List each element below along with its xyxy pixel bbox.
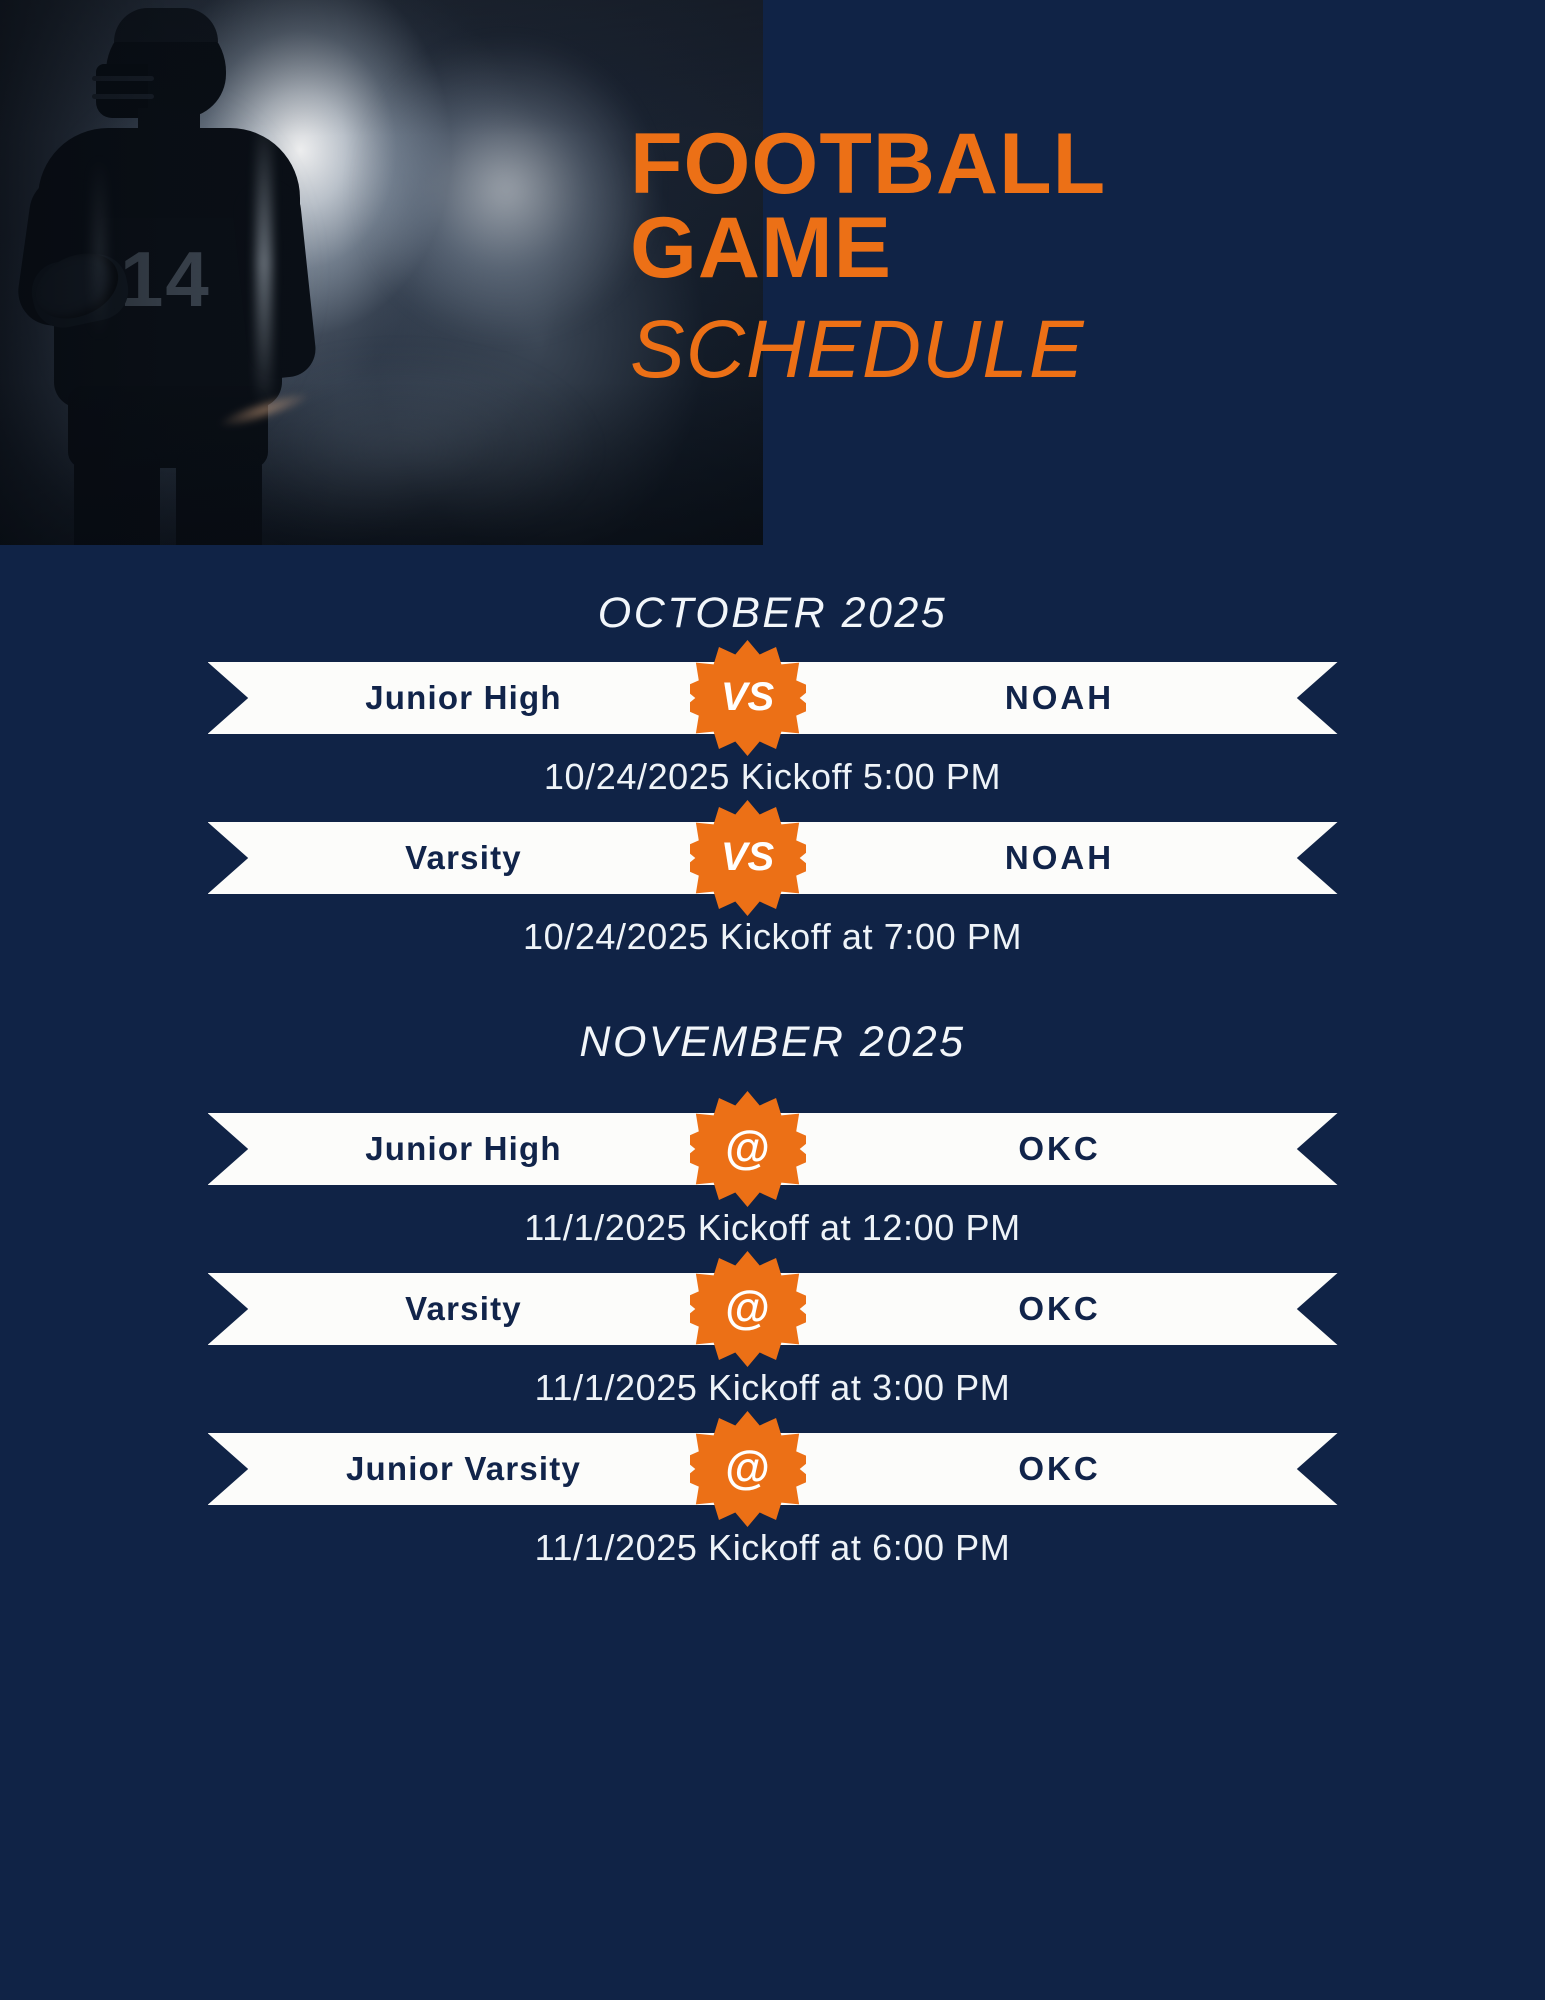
- game-block: Junior High @ OKC 11/1/2025 Kickoff at 1…: [0, 1113, 1545, 1249]
- football-schedule-poster: 14 FOOTBALL GAME SCHEDULE OCTOBER 2025: [0, 0, 1545, 2000]
- home-team-label: Junior Varsity: [208, 1450, 678, 1488]
- ribbon-content: Junior High VS NOAH: [208, 662, 1338, 734]
- away-team-label: NOAH: [818, 839, 1338, 877]
- game-ribbon: Junior High VS NOAH: [208, 662, 1338, 734]
- away-team-label: OKC: [818, 1450, 1338, 1488]
- at-badge-label: @: [725, 1444, 770, 1490]
- poster-title-block: FOOTBALL GAME SCHEDULE: [630, 122, 1530, 391]
- away-team-label: OKC: [818, 1290, 1338, 1328]
- game-block: Varsity VS NOAH 10/24/2025 Kickoff at 7:…: [0, 822, 1545, 958]
- away-team-label: NOAH: [818, 679, 1338, 717]
- home-team-label: Junior High: [208, 1130, 678, 1168]
- versus-badge-label: VS: [721, 837, 774, 877]
- month-heading-october: OCTOBER 2025: [0, 563, 1545, 638]
- game-ribbon: Varsity VS NOAH: [208, 822, 1338, 894]
- page-subtitle: SCHEDULE: [630, 309, 1530, 391]
- versus-badge-label: VS: [721, 677, 774, 717]
- away-team-label: OKC: [818, 1130, 1338, 1168]
- ribbon-content: Junior Varsity @ OKC: [208, 1433, 1338, 1505]
- game-ribbon: Junior Varsity @ OKC: [208, 1433, 1338, 1505]
- at-badge-label: @: [725, 1124, 770, 1170]
- home-team-label: Varsity: [208, 839, 678, 877]
- schedule-section: OCTOBER 2025 Junior High VS NOAH 10/24/2…: [0, 545, 1545, 1569]
- ribbon-content: Varsity @ OKC: [208, 1273, 1338, 1345]
- month-heading-november: NOVEMBER 2025: [0, 958, 1545, 1067]
- game-block: Junior Varsity @ OKC 11/1/2025 Kickoff a…: [0, 1433, 1545, 1569]
- home-team-label: Junior High: [208, 679, 678, 717]
- ribbon-content: Junior High @ OKC: [208, 1113, 1338, 1185]
- hero-section: 14 FOOTBALL GAME SCHEDULE: [0, 0, 1545, 545]
- at-badge-label: @: [725, 1284, 770, 1330]
- ribbon-content: Varsity VS NOAH: [208, 822, 1338, 894]
- page-title: FOOTBALL GAME: [630, 122, 1530, 291]
- game-ribbon: Junior High @ OKC: [208, 1113, 1338, 1185]
- home-team-label: Varsity: [208, 1290, 678, 1328]
- game-block: Junior High VS NOAH 10/24/2025 Kickoff 5…: [0, 662, 1545, 798]
- game-block: Varsity @ OKC 11/1/2025 Kickoff at 3:00 …: [0, 1273, 1545, 1409]
- game-ribbon: Varsity @ OKC: [208, 1273, 1338, 1345]
